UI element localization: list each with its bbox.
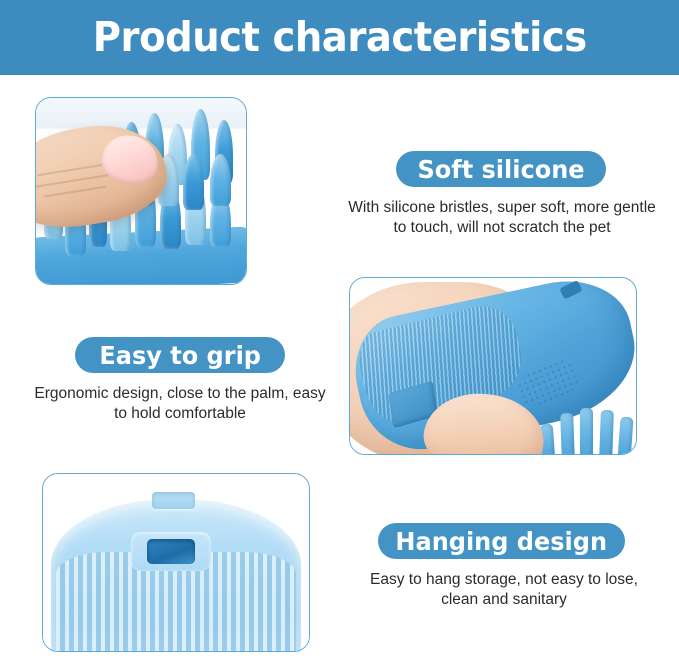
feature-badge-label: Easy to grip: [99, 343, 261, 368]
tooth-shape: [599, 410, 614, 454]
photo-content-back: [43, 474, 309, 651]
tooth-shape: [617, 417, 633, 454]
feature-description-hanging-design: Easy to hang storage, not easy to lose, …: [348, 570, 660, 610]
top-slot-shape: [152, 492, 195, 510]
finger-crease: [37, 163, 105, 176]
feature-badge-label: Soft silicone: [417, 157, 584, 182]
feature-description-easy-to-grip: Ergonomic design, close to the palm, eas…: [10, 384, 350, 424]
hanging-hole-shape: [147, 539, 195, 564]
header-bar: Product characteristics: [0, 0, 679, 75]
feature-badge-soft-silicone: Soft silicone: [396, 151, 606, 187]
tooth-shape: [560, 413, 575, 454]
photo-content-bristles: [36, 98, 246, 284]
product-photo-soft-silicone: [35, 97, 247, 285]
feature-description-soft-silicone: With silicone bristles, super soft, more…: [332, 198, 672, 238]
finger-crease: [44, 185, 106, 197]
feature-badge-hanging-design: Hanging design: [378, 523, 625, 559]
product-photo-easy-to-grip: [349, 277, 637, 455]
tooth-shape: [580, 408, 593, 454]
page-title: Product characteristics: [93, 17, 587, 58]
feature-badge-label: Hanging design: [396, 529, 608, 554]
feature-badge-easy-to-grip: Easy to grip: [75, 337, 285, 373]
hanging-hole-shape: [559, 280, 582, 300]
photo-content-grip: [350, 278, 636, 454]
product-photo-hanging-design: [42, 473, 310, 652]
